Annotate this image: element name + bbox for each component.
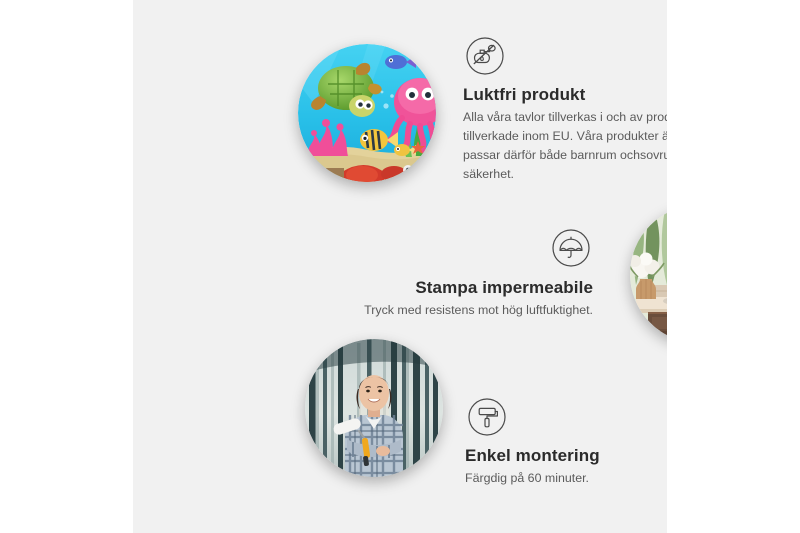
paint-roller-icon [467,397,507,437]
feature-body: Färgdig på 60 minuter. [465,469,667,488]
feature-title: Enkel montering [465,445,667,466]
bathroom-botanical-wallpaper-photo [630,205,667,343]
feature-odourless: Luktfri produkt Alla våra tavlor tillver… [463,36,667,184]
feature-easy-mounting: Enkel montering Färgdig på 60 minuter. [465,397,667,488]
feature-body: Tryck med resistens mot hög luftfuktighe… [303,301,593,320]
page-root: Luktfri produkt Alla våra tavlor tillver… [0,0,800,533]
feature-waterproof: Stampa impermeabile Tryck med resistens … [303,228,593,320]
feature-body: Alla våra tavlor tillverkas i och av pro… [463,108,667,183]
umbrella-icon [551,228,591,268]
underwater-cartoon-mural-photo [298,44,436,182]
no-fragrance-icon [465,36,505,76]
feature-title: Stampa impermeabile [303,277,593,298]
content-panel: Luktfri produkt Alla våra tavlor tillver… [133,0,667,533]
woman-with-paint-roller-forest-photo [305,339,443,477]
feature-title: Luktfri produkt [463,84,667,105]
